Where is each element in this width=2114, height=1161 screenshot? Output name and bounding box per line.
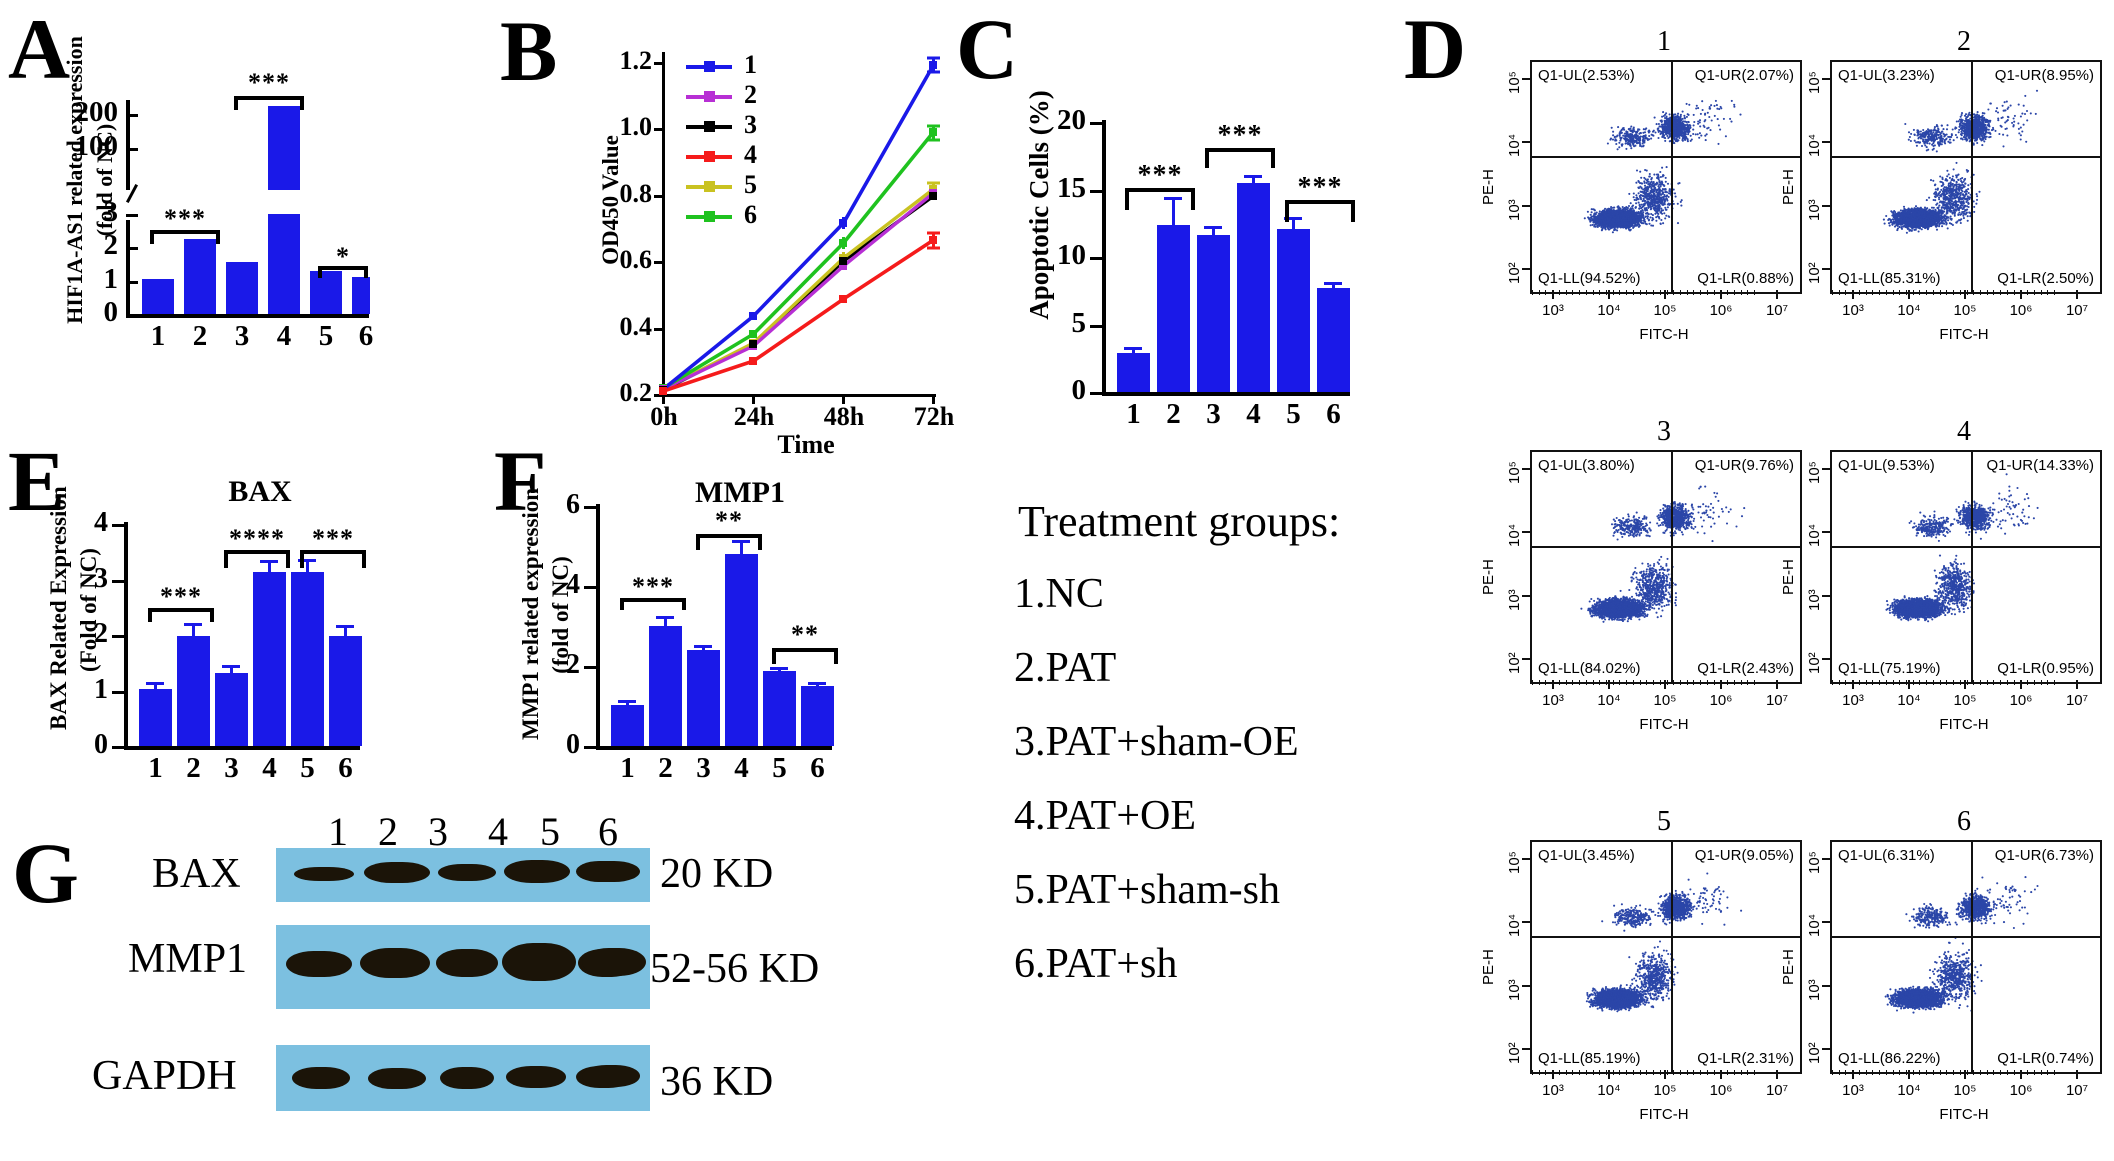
panel-e-xtick-1: 1 xyxy=(139,752,172,785)
panel-g-label: G xyxy=(12,830,79,916)
flow-x-minor-tick xyxy=(1933,680,1934,685)
panel-e-tick-0 xyxy=(112,746,124,749)
flow-x-minor-tick xyxy=(1640,680,1641,685)
flow-x-minor-tick xyxy=(1619,680,1620,685)
flow-x-minor-tick xyxy=(1599,290,1600,295)
flow-x-minor-tick xyxy=(1714,680,1715,685)
flow-x-minor-tick xyxy=(1653,680,1654,685)
flow-x-minor-tick xyxy=(1913,680,1914,685)
flow-x-minor-tick xyxy=(1572,290,1573,295)
flow-y-tick-mark-2-3 xyxy=(1822,78,1830,80)
flow-x-axis-label-5: FITC-H xyxy=(1530,1106,1798,1123)
flow-x-minor-tick xyxy=(1720,680,1721,685)
panel-f-xtick-5: 5 xyxy=(763,752,796,785)
flow-x-tick-1-0: 10³ xyxy=(1536,302,1570,319)
flow-scatter-dots xyxy=(1832,842,2100,1072)
flow-x-minor-tick xyxy=(1586,680,1587,685)
flow-x-minor-tick xyxy=(1946,680,1947,685)
flow-x-minor-tick xyxy=(1859,680,1860,685)
panel-g-kd-bax: 20 KD xyxy=(660,850,773,898)
flow-y-tick-6-0: 10² xyxy=(1806,1042,1823,1064)
panel-f-errcap-3 xyxy=(694,645,712,648)
flow-y-tick-mark-3-1 xyxy=(1522,595,1530,597)
flow-plot-box-6: Q1-UL(6.31%)Q1-UR(6.73%)Q1-LL(86.22%)Q1-… xyxy=(1830,840,2102,1074)
flow-y-tick-4-3: 10⁵ xyxy=(1806,461,1823,484)
panel-f-bar-5 xyxy=(763,671,796,746)
flow-x-minor-tick xyxy=(1845,290,1846,295)
legend-item-2: 2 xyxy=(686,82,806,112)
flow-x-minor-tick xyxy=(1693,680,1694,685)
flow-x-minor-tick xyxy=(1660,1070,1661,1075)
flow-x-minor-tick xyxy=(1714,290,1715,295)
flow-plot-4: 4PE-H10²10³10⁴10⁵Q1-UL(9.53%)Q1-UR(14.33… xyxy=(1770,416,2108,736)
flow-x-minor-tick xyxy=(1893,290,1894,295)
flow-x-minor-tick xyxy=(1839,1070,1840,1075)
panel-a-sig-text-5-6: * xyxy=(318,242,368,272)
flow-x-minor-tick xyxy=(1987,680,1988,685)
panel-c-x-axis xyxy=(1102,392,1350,396)
flow-plot-title-4: 4 xyxy=(1830,416,2098,448)
flow-quadrant-divider-horizontal xyxy=(1532,936,1800,938)
panel-f-xtick-6: 6 xyxy=(801,752,834,785)
flow-quadrant-ll-3: Q1-LL(84.02%) xyxy=(1538,660,1641,677)
flow-x-minor-tick xyxy=(2041,1070,2042,1075)
flow-x-minor-tick xyxy=(2000,290,2001,295)
flow-x-minor-tick xyxy=(1667,680,1668,685)
flow-x-minor-tick xyxy=(1552,290,1553,295)
panel-c-xtick-3: 3 xyxy=(1197,398,1230,431)
flow-x-minor-tick xyxy=(1960,290,1961,295)
panel-c-tick-0 xyxy=(1090,392,1102,395)
flow-x-minor-tick xyxy=(1919,680,1920,685)
panel-a-bar-4-upper xyxy=(268,106,300,190)
flow-plot-title-2: 2 xyxy=(1830,26,2098,58)
panel-e-sig-text-5-6: *** xyxy=(300,524,366,554)
flow-x-minor-tick xyxy=(1646,1070,1647,1075)
panel-f-bar-6 xyxy=(801,686,834,746)
flow-x-minor-tick xyxy=(1899,290,1900,295)
flow-plot-2: 2PE-H10²10³10⁴10⁵Q1-UL(3.23%)Q1-UR(8.95%… xyxy=(1770,26,2108,346)
panel-c-errcap-2 xyxy=(1164,197,1182,200)
panel-c-errcap-1 xyxy=(1124,347,1142,350)
flow-quadrant-ll-2: Q1-LL(85.31%) xyxy=(1838,270,1941,287)
flow-x-minor-tick xyxy=(1599,680,1600,685)
panel-c-sig-text-1-2: *** xyxy=(1125,160,1195,192)
panel-c-bar-6 xyxy=(1317,288,1350,392)
flow-x-minor-tick xyxy=(2007,1070,2008,1075)
flow-x-minor-tick xyxy=(1700,1070,1701,1075)
panel-f-bar-3 xyxy=(687,650,720,746)
flow-x-minor-tick xyxy=(1845,1070,1846,1075)
flow-y-axis-label-5: PE-H xyxy=(1480,949,1497,985)
flow-x-minor-tick xyxy=(1559,290,1560,295)
flow-x-tick-3-1: 10⁴ xyxy=(1592,692,1626,709)
flow-x-minor-tick xyxy=(1539,290,1540,295)
flow-y-tick-3-1: 10³ xyxy=(1506,589,1523,611)
panel-a-bar-4-lower xyxy=(268,214,300,314)
panel-e: E BAX BAX Related Expression (Fold of NC… xyxy=(0,430,470,790)
flow-y-tick-2-3: 10⁵ xyxy=(1806,71,1823,94)
flow-x-tick-3-2: 10⁵ xyxy=(1648,692,1682,709)
panel-a-sig-text-1-2: *** xyxy=(150,204,220,234)
flow-quadrant-ul-4: Q1-UL(9.53%) xyxy=(1838,457,1935,474)
flow-x-minor-tick xyxy=(1747,290,1748,295)
flow-x-minor-tick xyxy=(1579,290,1580,295)
flow-y-tick-mark-5-0 xyxy=(1522,1048,1530,1050)
flow-x-minor-tick xyxy=(1687,1070,1688,1075)
legend-item-4: 4 xyxy=(686,142,806,172)
panel-e-bar-3 xyxy=(215,673,248,746)
flow-x-tick-4-3: 10⁶ xyxy=(2004,692,2038,709)
flow-x-minor-tick xyxy=(2027,290,2028,295)
flow-x-minor-tick xyxy=(1886,680,1887,685)
flow-x-minor-tick xyxy=(1727,1070,1728,1075)
flow-x-minor-tick xyxy=(1646,680,1647,685)
panel-e-xtick-5: 5 xyxy=(291,752,324,785)
flow-y-tick-2-1: 10³ xyxy=(1806,199,1823,221)
flow-y-tick-mark-4-1 xyxy=(1822,595,1830,597)
panel-e-tick-4 xyxy=(112,524,124,527)
flow-x-minor-tick xyxy=(1872,680,1873,685)
flow-y-tick-6-2: 10⁴ xyxy=(1806,914,1823,937)
panel-c-tick-10 xyxy=(1090,257,1102,260)
flow-x-minor-tick xyxy=(1653,1070,1654,1075)
flow-quadrant-divider-horizontal xyxy=(1532,546,1800,548)
flow-x-minor-tick xyxy=(1832,1070,1833,1075)
panel-a-xtick-2: 2 xyxy=(184,320,216,353)
flow-x-minor-tick xyxy=(1572,1070,1573,1075)
flow-quadrant-divider-vertical xyxy=(1671,842,1673,1072)
flow-x-minor-tick xyxy=(1967,680,1968,685)
flow-y-tick-2-0: 10² xyxy=(1806,262,1823,284)
panel-c-xtick-1: 1 xyxy=(1117,398,1150,431)
flow-x-minor-tick xyxy=(1552,680,1553,685)
panel-c-ytick-20: 20 xyxy=(1026,104,1086,137)
panel-f-sig-text-5-6: ** xyxy=(772,620,838,650)
flow-x-minor-tick xyxy=(1906,1070,1907,1075)
flow-x-minor-tick xyxy=(1926,680,1927,685)
panel-c-ytick-5: 5 xyxy=(1036,307,1086,340)
legend-label-2: 2 xyxy=(744,80,757,110)
flow-x-minor-tick xyxy=(1859,290,1860,295)
flow-quadrant-divider-vertical xyxy=(1971,842,1973,1072)
flow-y-tick-5-2: 10⁴ xyxy=(1506,914,1523,937)
flow-x-minor-tick xyxy=(1747,680,1748,685)
legend-label-1: 1 xyxy=(744,50,757,80)
panel-c: C Apoptotic Cells (%) 0 5 10 15 20 *** *… xyxy=(950,0,1380,430)
flow-x-minor-tick xyxy=(1680,1070,1681,1075)
panel-g-blot-mmp1 xyxy=(276,925,650,1009)
flow-x-minor-tick xyxy=(1532,680,1533,685)
flow-quadrant-ul-6: Q1-UL(6.31%) xyxy=(1838,847,1935,864)
flow-x-tick-1-1: 10⁴ xyxy=(1592,302,1626,319)
flow-x-minor-tick xyxy=(1593,1070,1594,1075)
panel-f-ytick-0: 0 xyxy=(540,729,580,761)
panel-a-tick-200 xyxy=(126,114,138,117)
flow-x-tick-2-3: 10⁶ xyxy=(2004,302,2038,319)
flow-y-tick-mark-4-0 xyxy=(1822,658,1830,660)
panel-c-errcap-4 xyxy=(1244,175,1262,178)
panel-d: D 1PE-H10²10³10⁴10⁵Q1-UL(2.53%)Q1-UR(2.0… xyxy=(1400,0,2114,1161)
flow-x-minor-tick xyxy=(1946,290,1947,295)
flow-plot-grid: 1PE-H10²10³10⁴10⁵Q1-UL(2.53%)Q1-UR(2.07%… xyxy=(1400,0,2114,1161)
panel-c-err-2 xyxy=(1172,197,1175,227)
flow-x-minor-tick xyxy=(2014,680,2015,685)
flow-y-tick-mark-2-0 xyxy=(1822,268,1830,270)
flow-x-minor-tick xyxy=(2047,290,2048,295)
panel-b: B OD450 Value 0.2 0.4 0.6 0.8 1.0 1.2 0h… xyxy=(490,0,960,460)
panel-a-ylabel-200: 200 xyxy=(56,96,118,129)
flow-x-axis-label-2: FITC-H xyxy=(1830,326,2098,343)
flow-x-minor-tick xyxy=(1919,1070,1920,1075)
legend-item-1: 1 xyxy=(686,52,806,82)
flow-x-minor-tick xyxy=(2020,1070,2021,1075)
flow-x-minor-tick xyxy=(1926,1070,1927,1075)
panel-c-tick-20 xyxy=(1090,122,1102,125)
panel-f-errcap-4 xyxy=(732,540,750,543)
panel-c-ytick-10: 10 xyxy=(1026,239,1086,272)
legend-label-6: 6 xyxy=(744,200,757,230)
flow-x-minor-tick xyxy=(1693,290,1694,295)
flow-x-minor-tick xyxy=(1539,680,1540,685)
flow-plot-3: 3PE-H10²10³10⁴10⁵Q1-UL(3.80%)Q1-UR(9.76%… xyxy=(1470,416,1808,736)
flow-quadrant-divider-vertical xyxy=(1671,62,1673,292)
flow-x-tick-mark-2-4 xyxy=(2076,290,2078,299)
flow-x-minor-tick xyxy=(1741,290,1742,295)
flow-x-minor-tick xyxy=(1693,1070,1694,1075)
flow-x-tick-1-3: 10⁶ xyxy=(1704,302,1738,319)
treatment-group-item-3: 3.PAT+sham-OE xyxy=(1014,718,1299,766)
flow-scatter-dots xyxy=(1532,452,1800,682)
flow-plot-1: 1PE-H10²10³10⁴10⁵Q1-UL(2.53%)Q1-UR(2.07%… xyxy=(1470,26,1808,346)
flow-plot-title-6: 6 xyxy=(1830,806,2098,838)
panel-c-bar-4 xyxy=(1237,183,1270,392)
flow-x-minor-tick xyxy=(1545,1070,1546,1075)
flow-quadrant-ul-3: Q1-UL(3.80%) xyxy=(1538,457,1635,474)
flow-scatter-dots xyxy=(1532,842,1800,1072)
flow-x-tick-5-3: 10⁶ xyxy=(1704,1082,1738,1099)
flow-y-axis-label-2: PE-H xyxy=(1780,169,1797,205)
flow-x-axis-label-1: FITC-H xyxy=(1530,326,1798,343)
flow-quadrant-ul-2: Q1-UL(3.23%) xyxy=(1838,67,1935,84)
panel-a-bar-5 xyxy=(310,271,342,314)
flow-x-minor-tick xyxy=(1754,680,1755,685)
panel-c-bar-1 xyxy=(1117,353,1150,392)
flow-y-tick-3-3: 10⁵ xyxy=(1506,461,1523,484)
flow-x-minor-tick xyxy=(1673,290,1674,295)
flow-x-minor-tick xyxy=(1741,1070,1742,1075)
flow-x-minor-tick xyxy=(1599,1070,1600,1075)
flow-x-minor-tick xyxy=(1673,680,1674,685)
flow-x-tick-2-4: 10⁷ xyxy=(2060,302,2094,319)
flow-x-minor-tick xyxy=(2007,680,2008,685)
flow-x-minor-tick xyxy=(1660,680,1661,685)
panel-f-errcap-6 xyxy=(808,682,826,685)
panel-f-ylabel-line2: (fold of NC) xyxy=(548,490,574,740)
flow-y-tick-5-1: 10³ xyxy=(1506,979,1523,1001)
flow-x-tick-4-1: 10⁴ xyxy=(1892,692,1926,709)
flow-x-minor-tick xyxy=(1667,1070,1668,1075)
flow-y-tick-mark-1-1 xyxy=(1522,205,1530,207)
flow-x-minor-tick xyxy=(1859,1070,1860,1075)
flow-x-tick-3-0: 10³ xyxy=(1536,692,1570,709)
panel-a-ylabel-100: 100 xyxy=(56,130,118,163)
flow-x-minor-tick xyxy=(1559,680,1560,685)
flow-x-tick-4-2: 10⁵ xyxy=(1948,692,1982,709)
treatment-group-item-2: 2.PAT xyxy=(1014,644,1116,692)
flow-quadrant-ll-4: Q1-LL(75.19%) xyxy=(1838,660,1941,677)
flow-x-minor-tick xyxy=(2041,290,2042,295)
panel-e-ytick-1: 1 xyxy=(68,674,108,706)
panel-e-sig-text-1-2: *** xyxy=(148,582,214,612)
legend-label-3: 3 xyxy=(744,110,757,140)
flow-x-minor-tick xyxy=(2047,1070,2048,1075)
flow-quadrant-divider-horizontal xyxy=(1832,936,2100,938)
flow-x-minor-tick xyxy=(1646,290,1647,295)
flow-quadrant-ur-6: Q1-UR(6.73%) xyxy=(1995,847,2094,864)
panel-f-ytick-6: 6 xyxy=(540,489,580,521)
panel-a-sig-text-3-4: *** xyxy=(234,68,304,98)
flow-x-minor-tick xyxy=(1913,1070,1914,1075)
legend-label-5: 5 xyxy=(744,170,757,200)
flow-plot-5: 5PE-H10²10³10⁴10⁵Q1-UL(3.45%)Q1-UR(9.05%… xyxy=(1470,806,1808,1126)
flow-y-tick-mark-1-2 xyxy=(1522,141,1530,143)
panel-e-title: BAX xyxy=(190,475,330,509)
panel-a-bar-6 xyxy=(352,277,370,314)
panel-f: F MMP1 MMP1 related expression (fold of … xyxy=(470,430,940,790)
flow-x-minor-tick xyxy=(1687,680,1688,685)
flow-x-minor-tick xyxy=(1899,1070,1900,1075)
flow-x-minor-tick xyxy=(1727,680,1728,685)
legend-item-3: 3 xyxy=(686,112,806,142)
flow-x-minor-tick xyxy=(1906,680,1907,685)
flow-x-minor-tick xyxy=(1953,1070,1954,1075)
flow-x-minor-tick xyxy=(1893,680,1894,685)
panel-c-sig-text-3-4: *** xyxy=(1205,120,1275,152)
flow-x-axis-label-3: FITC-H xyxy=(1530,716,1798,733)
flow-x-minor-tick xyxy=(1633,1070,1634,1075)
panel-g-protein-mmp1: MMP1 xyxy=(128,935,247,983)
panel-a-xtick-5: 5 xyxy=(310,320,342,353)
flow-y-tick-5-0: 10² xyxy=(1506,1042,1523,1064)
flow-y-axis-label-1: PE-H xyxy=(1480,169,1497,205)
flow-x-minor-tick xyxy=(1852,680,1853,685)
panel-e-ytick-2: 2 xyxy=(68,618,108,650)
panel-f-sig-text-1-2: *** xyxy=(620,572,686,602)
panel-a-bar-3 xyxy=(226,262,258,314)
flow-x-minor-tick xyxy=(1940,680,1941,685)
flow-x-minor-tick xyxy=(1667,290,1668,295)
panel-e-sig-text-3-4: **** xyxy=(224,524,290,554)
flow-x-minor-tick xyxy=(1532,1070,1533,1075)
flow-y-tick-6-1: 10³ xyxy=(1806,979,1823,1001)
flow-x-minor-tick xyxy=(1613,1070,1614,1075)
flow-y-tick-mark-1-3 xyxy=(1522,78,1530,80)
flow-x-minor-tick xyxy=(1559,1070,1560,1075)
flow-y-tick-mark-3-2 xyxy=(1522,531,1530,533)
panel-c-errcap-6 xyxy=(1324,282,1342,285)
flow-x-minor-tick xyxy=(1886,290,1887,295)
flow-x-tick-6-4: 10⁷ xyxy=(2060,1082,2094,1099)
flow-x-minor-tick xyxy=(1586,1070,1587,1075)
flow-x-minor-tick xyxy=(1993,1070,1994,1075)
panel-a-x-axis xyxy=(126,314,369,318)
flow-y-tick-mark-4-3 xyxy=(1822,468,1830,470)
flow-y-axis-label-3: PE-H xyxy=(1480,559,1497,595)
flow-x-minor-tick xyxy=(2014,1070,2015,1075)
panel-a-bar-1 xyxy=(142,279,174,314)
flow-x-minor-tick xyxy=(1673,1070,1674,1075)
flow-x-minor-tick xyxy=(1593,680,1594,685)
flow-x-minor-tick xyxy=(1545,290,1546,295)
panel-f-ytick-4: 4 xyxy=(540,569,580,601)
flow-quadrant-lr-4: Q1-LR(0.95%) xyxy=(1997,660,2094,677)
panel-a-label: A xyxy=(8,6,70,92)
flow-y-tick-mark-3-3 xyxy=(1522,468,1530,470)
panel-e-errcap-2 xyxy=(184,623,202,626)
panel-f-tick-2 xyxy=(584,666,596,669)
panel-e-ytick-3: 3 xyxy=(68,563,108,595)
flow-plot-6: 6PE-H10²10³10⁴10⁵Q1-UL(6.31%)Q1-UR(6.73%… xyxy=(1770,806,2108,1126)
flow-y-tick-mark-3-0 xyxy=(1522,658,1530,660)
flow-x-minor-tick xyxy=(1700,290,1701,295)
panel-f-tick-4 xyxy=(584,586,596,589)
flow-y-tick-1-0: 10² xyxy=(1506,262,1523,284)
flow-y-tick-4-2: 10⁴ xyxy=(1806,524,1823,547)
flow-x-minor-tick xyxy=(1852,290,1853,295)
flow-x-minor-tick xyxy=(1619,1070,1620,1075)
flow-quadrant-ul-1: Q1-UL(2.53%) xyxy=(1538,67,1635,84)
flow-plot-box-1: Q1-UL(2.53%)Q1-UR(2.07%)Q1-LL(94.52%)Q1-… xyxy=(1530,60,1802,294)
panel-e-bar-6 xyxy=(329,636,362,746)
flow-x-minor-tick xyxy=(1707,290,1708,295)
panel-f-x-axis xyxy=(596,746,832,750)
panel-e-y-axis xyxy=(124,522,128,750)
flow-x-tick-mark-5-1 xyxy=(1608,1070,1610,1079)
panel-a-ylabel-0: 0 xyxy=(76,296,118,329)
flow-x-minor-tick xyxy=(1640,1070,1641,1075)
flow-quadrant-ll-5: Q1-LL(85.19%) xyxy=(1538,1050,1641,1067)
panel-c-ytick-0: 0 xyxy=(1036,374,1086,407)
flow-y-tick-4-1: 10³ xyxy=(1806,589,1823,611)
flow-y-tick-1-3: 10⁵ xyxy=(1506,71,1523,94)
flow-x-minor-tick xyxy=(2034,680,2035,685)
flow-x-tick-4-4: 10⁷ xyxy=(2060,692,2094,709)
flow-x-minor-tick xyxy=(1619,290,1620,295)
flow-quadrant-ll-1: Q1-LL(94.52%) xyxy=(1538,270,1641,287)
flow-x-minor-tick xyxy=(1926,290,1927,295)
flow-quadrant-divider-horizontal xyxy=(1832,546,2100,548)
panel-f-bar-1 xyxy=(611,705,644,746)
panel-a-xtick-1: 1 xyxy=(142,320,174,353)
flow-y-tick-mark-4-2 xyxy=(1822,531,1830,533)
flow-x-minor-tick xyxy=(1633,290,1634,295)
panel-f-title: MMP1 xyxy=(660,476,820,510)
flow-x-minor-tick xyxy=(1960,1070,1961,1075)
flow-quadrant-lr-6: Q1-LR(0.74%) xyxy=(1997,1050,2094,1067)
panel-e-bar-4 xyxy=(253,572,286,746)
panel-e-tick-1 xyxy=(112,691,124,694)
flow-x-minor-tick xyxy=(1626,1070,1627,1075)
flow-x-tick-mark-3-1 xyxy=(1608,680,1610,689)
flow-x-minor-tick xyxy=(1626,680,1627,685)
panel-c-bar-2 xyxy=(1157,225,1190,392)
panel-e-ytick-0: 0 xyxy=(68,729,108,761)
flow-x-minor-tick xyxy=(1700,680,1701,685)
panel-f-errcap-2 xyxy=(656,616,674,619)
flow-x-minor-tick xyxy=(1680,680,1681,685)
panel-g-protein-gapdh: GAPDH xyxy=(92,1052,237,1100)
